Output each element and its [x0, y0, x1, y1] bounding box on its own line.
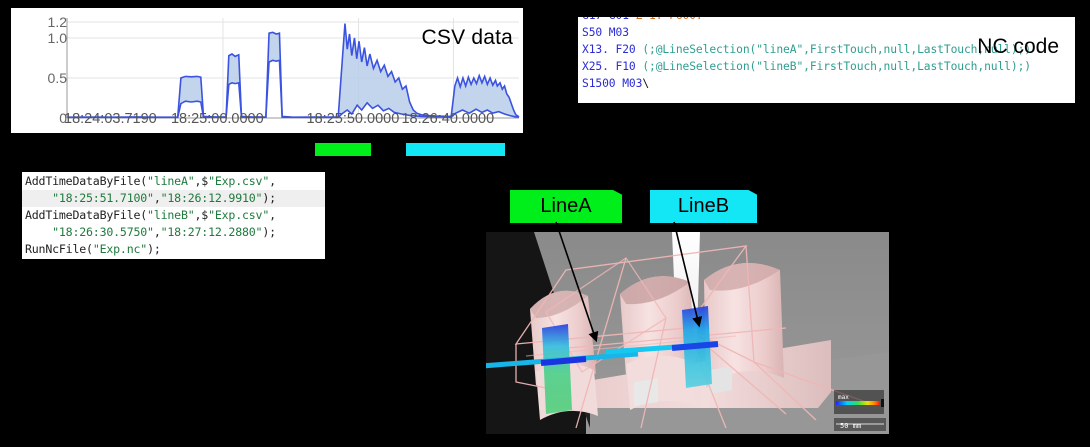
csv-data-title: CSV data	[422, 26, 514, 50]
nc-code-line[interactable]: X25. F10 (;@LineSelection("lineB",FirstT…	[582, 60, 1031, 73]
script-code-line[interactable]: AddTimeDataByFile("lineB",$"Exp.csv",	[25, 208, 276, 222]
chart-x-tick: 18:25:00.0000	[171, 111, 264, 127]
script-token: );	[262, 191, 276, 205]
slot-notch-1	[634, 378, 658, 406]
callout-linea: LineA	[510, 190, 622, 223]
script-token: ,	[269, 174, 276, 188]
nc-code-line[interactable]: G17 G01 Z-1. F600.	[582, 17, 703, 22]
script-token: ,	[154, 225, 161, 239]
3d-scene: max 50 mm	[486, 232, 889, 434]
timeline-bar-lineb	[406, 143, 505, 156]
script-token: "18:26:12.9910"	[161, 191, 263, 205]
nc-code-token: S1500 M03	[582, 77, 642, 90]
script-token: "18:26:30.5750"	[52, 225, 154, 239]
3d-simulation-viewport[interactable]: max 50 mm	[486, 232, 889, 434]
script-token: ,$	[195, 208, 209, 222]
script-token: AddTimeDataByFile(	[25, 174, 147, 188]
chart-x-tick: 18:25:50.0000	[307, 111, 400, 127]
script-code-panel[interactable]: AddTimeDataByFile("lineA",$"Exp.csv", "1…	[22, 172, 325, 259]
script-token: );	[147, 242, 161, 256]
chart-y-tick-labels: 00.51.01.2	[11, 8, 67, 118]
chart-x-tick: 18:24:03.7190	[64, 111, 157, 127]
callout-linea-label: LineA	[540, 195, 591, 218]
chart-y-tick: 1.2	[48, 15, 67, 29]
nc-code-token: X25. F10	[582, 60, 642, 73]
callout-lineb: LineB	[650, 190, 757, 223]
measured-slice-linea	[542, 324, 572, 414]
viewport-scale-bar: 50 mm	[834, 418, 886, 431]
slot-notch-2	[710, 366, 732, 394]
script-token	[25, 225, 52, 239]
colorbar-max-label: max	[838, 394, 849, 401]
nc-code-line[interactable]: S50 M03	[582, 26, 629, 39]
nc-code-token: X13. F20	[582, 43, 642, 56]
callout-lineb-label: LineB	[678, 195, 729, 218]
script-token: "18:25:51.7100"	[52, 191, 154, 205]
script-code-line[interactable]: "18:26:30.5750","18:27:12.2880");	[25, 225, 276, 239]
chart-x-tick: 18:26:40.0000	[401, 111, 494, 127]
chart-line-lower	[67, 60, 519, 117]
measured-streak-2-hot	[672, 344, 718, 348]
script-code-line[interactable]: AddTimeDataByFile("lineA",$"Exp.csv",	[25, 174, 276, 188]
csv-chart-panel: 00.51.01.2 18:24:03.719018:25:00.000018:…	[11, 8, 523, 133]
chart-x-tick-labels: 18:24:03.719018:25:00.000018:25:50.00001…	[11, 111, 523, 131]
script-token: "Exp.nc"	[93, 242, 147, 256]
script-code-line[interactable]: RunNcFile("Exp.nc");	[25, 242, 161, 256]
nc-code-token: (;@LineSelection("lineA",FirstTouch,null…	[642, 43, 1031, 56]
nc-code-panel[interactable]: G17 G01 Z-1. F600.S50 M03X13. F20 (;@Lin…	[578, 17, 1075, 103]
script-token: "Exp.csv"	[208, 174, 269, 188]
script-token: "lineA"	[147, 174, 194, 188]
nc-code-token: G17 G01	[582, 17, 636, 22]
nc-code-token: S50 M03	[582, 26, 629, 39]
script-token: ,	[269, 208, 276, 222]
script-token: "Exp.csv"	[208, 208, 269, 222]
script-token: ,$	[195, 174, 209, 188]
script-token: );	[262, 225, 276, 239]
nc-code-token: Z-1. F600.	[636, 17, 703, 22]
nc-code-line[interactable]: X13. F20 (;@LineSelection("lineA",FirstT…	[582, 43, 1031, 56]
chart-y-tick: 0.5	[48, 71, 67, 85]
timeline-bar-linea	[315, 143, 371, 156]
script-token: AddTimeDataByFile(	[25, 208, 147, 222]
script-token: "lineB"	[147, 208, 194, 222]
scale-bar-label: 50 mm	[840, 422, 861, 430]
script-code-line[interactable]: "18:25:51.7100","18:26:12.9910");	[25, 191, 276, 205]
script-token: "18:27:12.2880"	[161, 225, 263, 239]
script-token: RunNcFile(	[25, 242, 93, 256]
nc-code-line[interactable]: S1500 M03\	[582, 77, 649, 90]
script-token	[25, 191, 52, 205]
nc-code-title: NC code	[977, 35, 1059, 59]
nc-code-token: (;@LineSelection("lineB",FirstTouch,null…	[642, 60, 1031, 73]
measured-streak-1-hot	[541, 359, 586, 363]
nc-code-token: \	[642, 77, 649, 90]
viewport-colorbar: max	[834, 390, 884, 414]
chart-y-tick: 1.0	[48, 31, 67, 45]
script-token: ,	[154, 191, 161, 205]
